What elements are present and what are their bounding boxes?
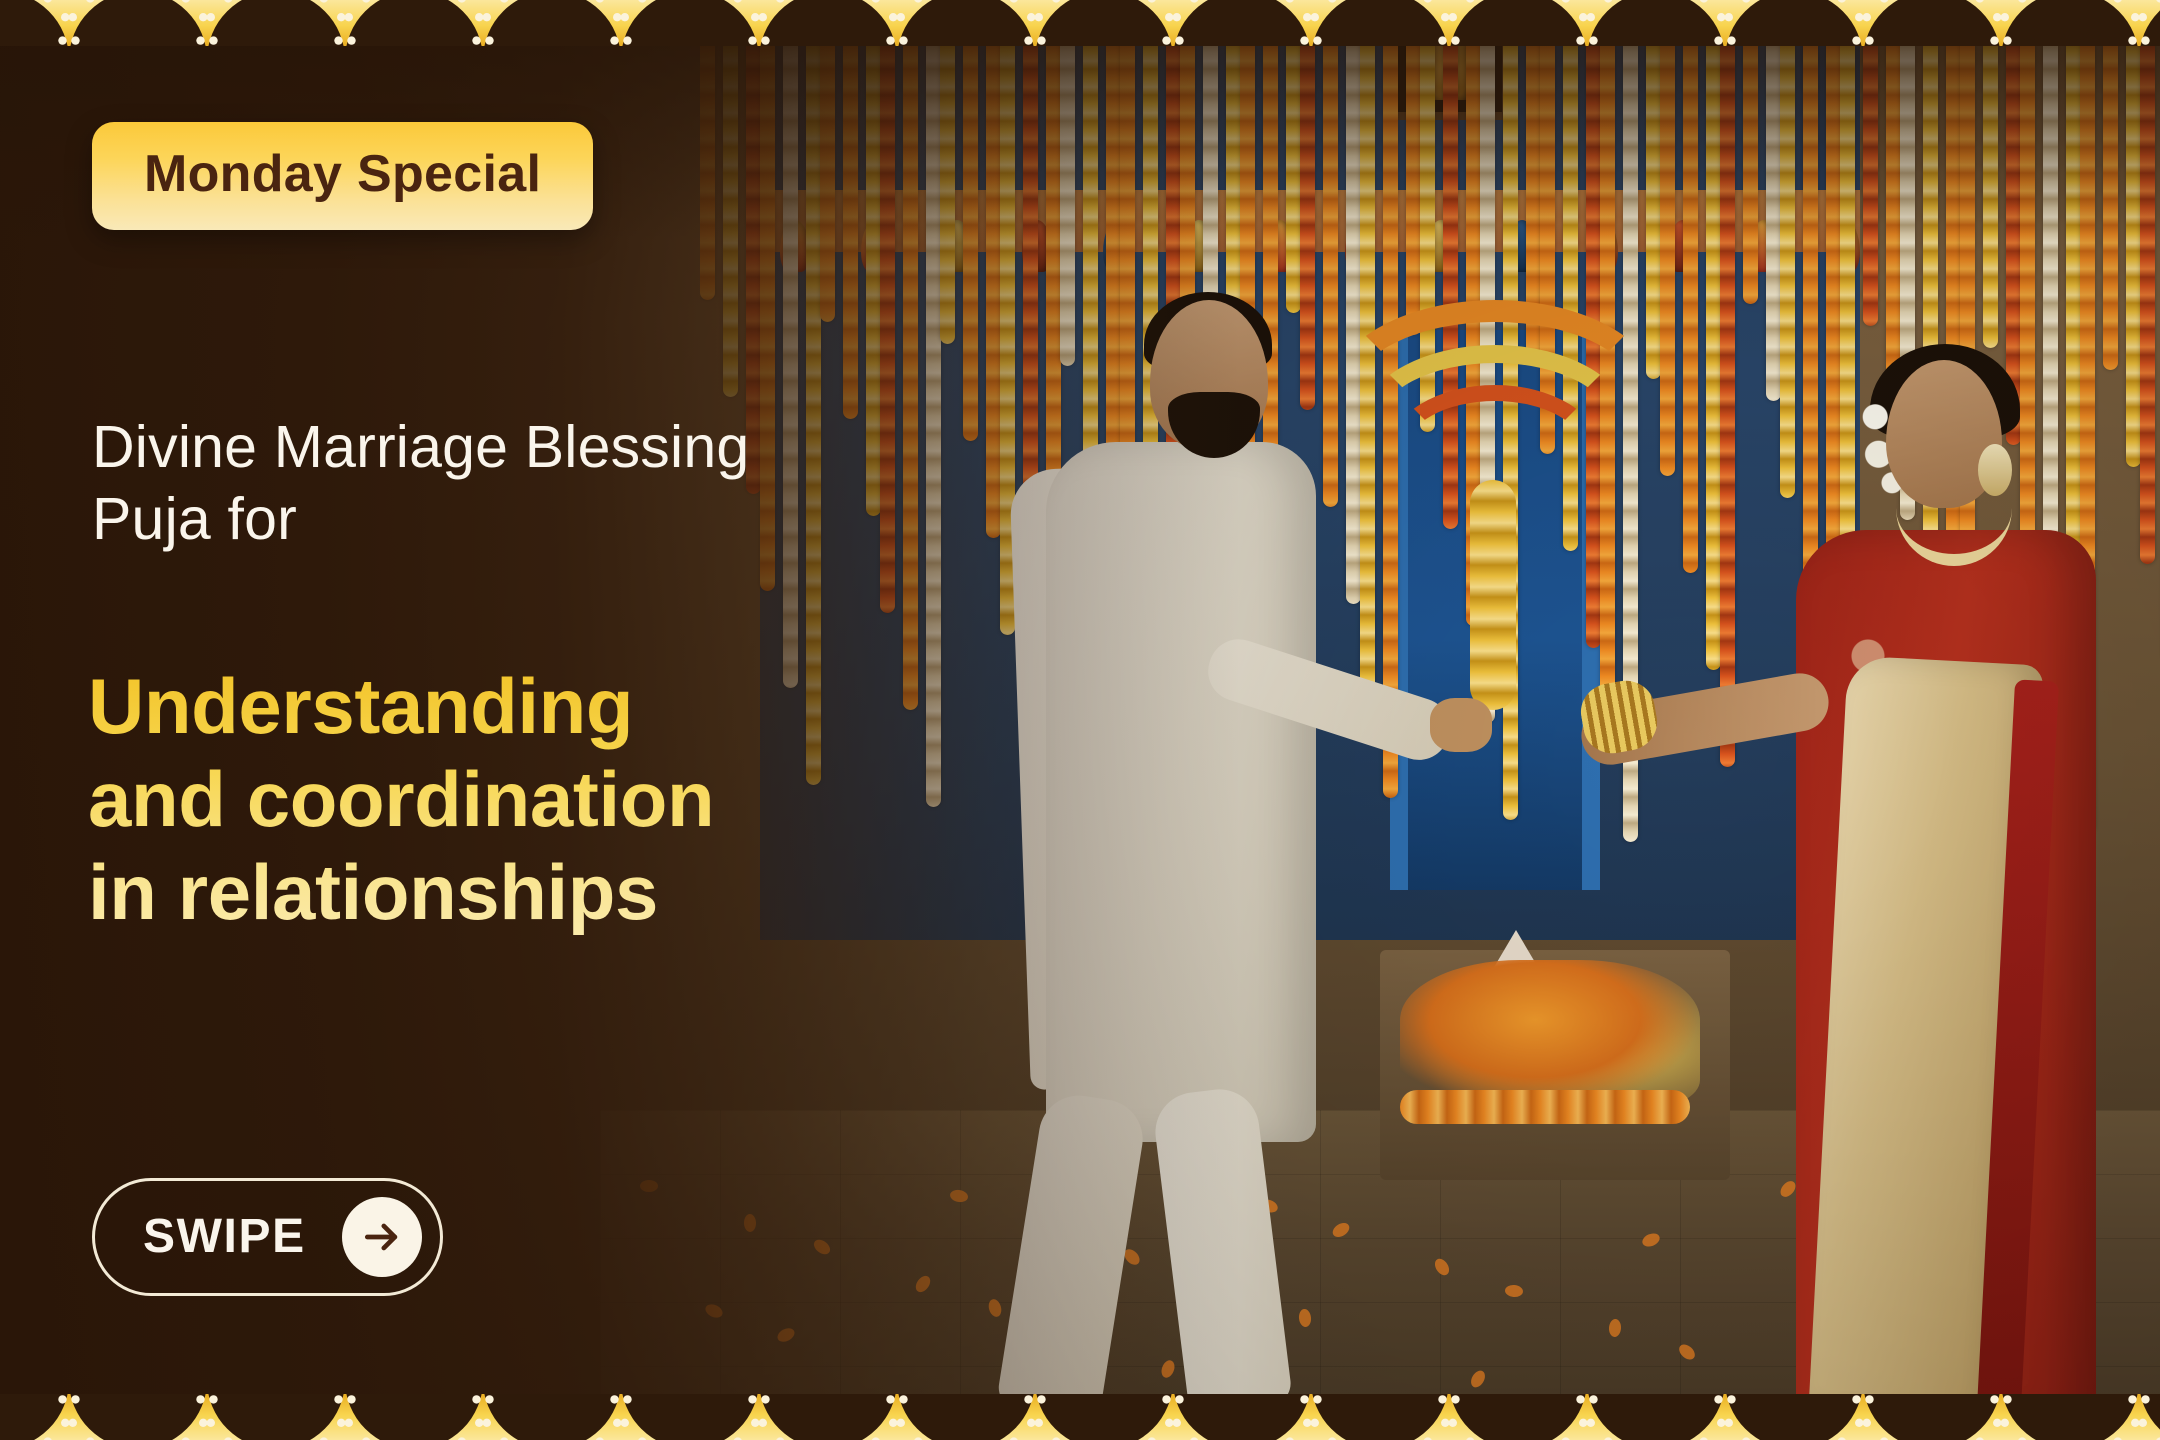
subheadline-line-2: Puja for bbox=[92, 484, 992, 556]
subheadline-line-1: Divine Marriage Blessing bbox=[92, 412, 992, 484]
arrow-right-icon[interactable] bbox=[342, 1197, 422, 1277]
promo-banner: Monday Special Divine Marriage Blessing … bbox=[0, 0, 2160, 1440]
headline-line-1: Understanding bbox=[88, 660, 1008, 753]
subheadline: Divine Marriage Blessing Puja for bbox=[92, 412, 992, 556]
headline: Understanding and coordination in relati… bbox=[88, 660, 1008, 938]
swipe-button[interactable]: SWIPE bbox=[92, 1178, 443, 1296]
badge-label: Monday Special bbox=[144, 148, 541, 200]
banner-content: Monday Special Divine Marriage Blessing … bbox=[0, 0, 2160, 1440]
monday-special-badge: Monday Special bbox=[92, 122, 593, 230]
swipe-button-label: SWIPE bbox=[143, 1213, 306, 1261]
headline-line-2: and coordination bbox=[88, 753, 1008, 846]
headline-line-3: in relationships bbox=[88, 846, 1008, 939]
